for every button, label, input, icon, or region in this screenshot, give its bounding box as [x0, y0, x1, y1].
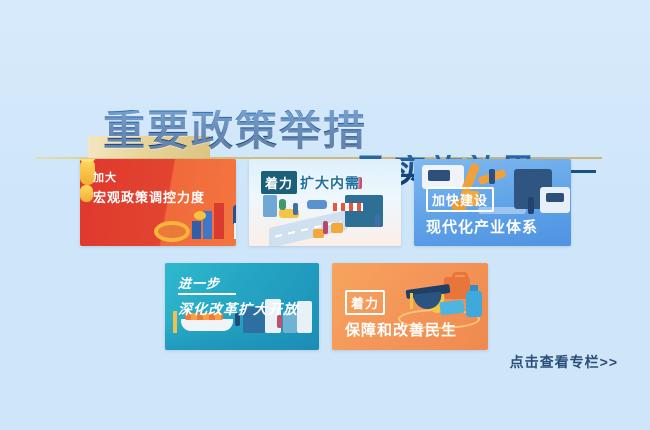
coin-ring-icon: [154, 221, 190, 242]
card-reform-opening[interactable]: 进一步 深化改革扩大开放: [165, 263, 319, 350]
banner-root: 重要政策举措 及实施效果 加大 宏观政策调控力度 着力扩大内需: [0, 0, 650, 430]
car-icon-2: [307, 200, 327, 209]
tree-icon: [279, 199, 286, 210]
post-icon: [173, 311, 177, 333]
card-livelihood-line2: 保障和改善民生: [345, 319, 457, 340]
parcel-icon-1: [331, 223, 343, 233]
person-icon-1: [293, 203, 298, 215]
card-domestic-demand[interactable]: 着力扩大内需: [249, 159, 401, 246]
machine-screen-3: [546, 193, 564, 202]
bar-chart-bar-3: [214, 203, 224, 239]
card-industrial-system-caption: 加快建设 现代化产业体系: [426, 187, 538, 237]
card-domestic-demand-line1: 着力: [261, 171, 297, 194]
machine-screen-1: [428, 170, 450, 181]
card-industrial-system-line1: 加快建设: [426, 187, 494, 212]
port-building-4: [297, 301, 312, 333]
card-macro-policy-caption: 加大 宏观政策调控力度: [93, 169, 205, 206]
person-icon-3: [375, 214, 380, 227]
card-livelihood-caption: 着力 保障和改善民生: [345, 290, 457, 340]
card-macro-policy-line1: 加大: [93, 169, 205, 185]
view-column-link[interactable]: 点击查看专栏>>: [510, 352, 618, 372]
card-industrial-system[interactable]: 加快建设 现代化产业体系: [414, 159, 571, 246]
person-body-icon: [233, 205, 236, 224]
card-livelihood-line1: 着力: [345, 290, 385, 315]
awning-icon: [333, 203, 363, 211]
banner-header: 重要政策举措 及实施效果: [0, 52, 650, 152]
card-livelihood[interactable]: 着力 保障和改善民生: [332, 263, 488, 350]
card-macro-policy-line2: 宏观政策调控力度: [93, 187, 205, 206]
building-icon: [263, 195, 277, 217]
card-reform-opening-line2: 深化改革扩大开放: [178, 299, 298, 319]
person-legs-icon: [234, 223, 236, 239]
person-icon-2: [323, 221, 328, 234]
card-reform-opening-caption: 进一步 深化改革扩大开放: [178, 273, 298, 319]
coin-stack-small-icon: [80, 185, 93, 202]
cargo-ship-icon: [181, 319, 233, 331]
card-industrial-system-line2: 现代化产业体系: [426, 216, 538, 237]
card-macro-policy[interactable]: 加大 宏观政策调控力度: [80, 159, 236, 246]
card-reform-opening-line1: 进一步: [178, 273, 236, 295]
card-domestic-demand-line2: 扩大内需: [300, 173, 360, 193]
medicine-bottle-icon: [466, 291, 482, 317]
coin-icon: [194, 211, 206, 220]
bar-chart-bar-1: [192, 221, 201, 239]
page-title-line1: 重要政策举措: [103, 110, 367, 152]
card-domestic-demand-caption: 着力扩大内需: [261, 171, 360, 194]
worker-icon-1: [489, 169, 495, 184]
